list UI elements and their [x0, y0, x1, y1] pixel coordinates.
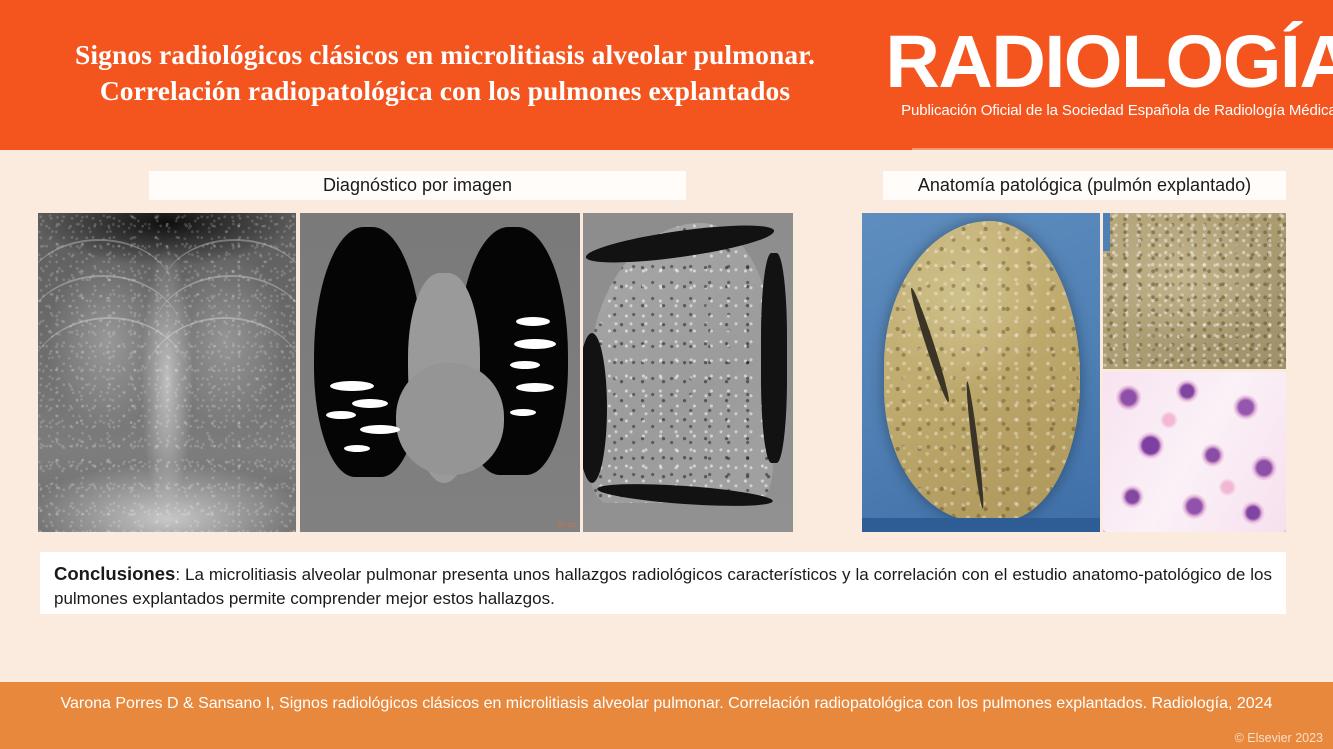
ct-sagittal-lung: [589, 223, 773, 503]
conclusions-text: Conclusiones: La microlitiasis alveolar …: [54, 561, 1272, 611]
graphical-abstract-page: Signos radiológicos clásicos en microlit…: [0, 0, 1333, 749]
logo-underline-rule: [912, 148, 1333, 151]
figure-gross-lung-specimen: [862, 213, 1100, 532]
ct-calcification: [516, 383, 554, 392]
ct-sagittal-texture: [589, 223, 773, 503]
ct-calcification: [360, 425, 400, 434]
ct-calcification: [510, 361, 540, 369]
conclusions-body: La microlitiasis alveolar pulmonar prese…: [54, 565, 1272, 608]
conclusions-box: Conclusiones: La microlitiasis alveolar …: [40, 552, 1286, 614]
ct-calcification: [514, 339, 556, 349]
specimen-tray-edge: [862, 518, 1100, 532]
ct-calcification: [510, 409, 536, 416]
page-title: Signos radiológicos clásicos en microlit…: [28, 37, 862, 109]
section-label-imaging: Diagnóstico por imagen: [149, 171, 686, 200]
ct-scale-annotation: 20 cm: [557, 522, 577, 529]
ct-calcification: [326, 411, 356, 419]
macro-sandy-texture: [1103, 213, 1286, 369]
specimen-background-strip: [1103, 213, 1110, 251]
journal-logo: RADIOLOGÍA Publicación Oficial de la Soc…: [890, 0, 1333, 150]
explanted-lung: [884, 221, 1080, 521]
journal-logo-wordmark: RADIOLOGÍA: [885, 27, 1333, 97]
section-label-pathology: Anatomía patológica (pulmón explantado): [883, 171, 1286, 200]
copyright-notice: © Elsevier 2023: [1235, 731, 1323, 745]
ct-calcification: [344, 445, 370, 452]
rib-shadow: [144, 317, 296, 449]
figure-ct-coronal: 20 cm: [300, 213, 580, 532]
citation-text: Varona Porres D & Sansano I, Signos radi…: [50, 692, 1283, 715]
ct-heart-silhouette: [396, 363, 504, 475]
ct-calcification: [330, 381, 374, 391]
footer-bar: Varona Porres D & Sansano I, Signos radi…: [0, 682, 1333, 749]
subpleural-black-band: [761, 253, 787, 463]
conclusions-lead: Conclusiones: [54, 563, 175, 584]
header-title-block: Signos radiológicos clásicos en microlit…: [0, 0, 890, 150]
conclusions-separator: :: [175, 565, 185, 584]
figure-ct-sagittal: [583, 213, 793, 532]
header-bar: Signos radiológicos clásicos en microlit…: [0, 0, 1333, 150]
journal-logo-subtitle: Publicación Oficial de la Sociedad Españ…: [901, 102, 1333, 119]
ct-calcification: [352, 399, 388, 408]
figure-chest-xray: [38, 213, 296, 532]
ct-calcification: [516, 317, 550, 326]
histology-alveolar-septa: [1103, 372, 1286, 532]
figure-histology-he: [1103, 372, 1286, 532]
gross-sandy-texture: [884, 221, 1080, 521]
figure-macro-cut-surface: [1103, 213, 1286, 369]
